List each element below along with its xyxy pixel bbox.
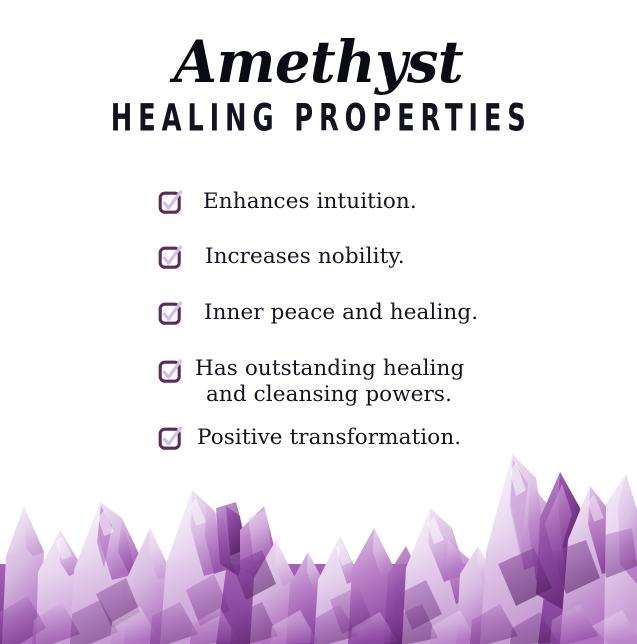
property-row: Has outstanding healing and cleansing po… bbox=[0, 358, 637, 414]
list-item: Enhances intuition. bbox=[0, 189, 637, 217]
property-row: Enhances intuition. bbox=[0, 189, 637, 217]
list-item: Increases nobility. bbox=[0, 244, 637, 272]
checkbox-checked-icon bbox=[158, 189, 184, 215]
amethyst-infographic: Amethyst HEALING PROPERTIES Enhances int… bbox=[0, 0, 637, 644]
checkbox-checked-icon bbox=[158, 300, 184, 326]
list-item: Inner peace and healing. bbox=[0, 300, 637, 328]
page-title: Amethyst bbox=[13, 30, 625, 94]
checkbox-checked-icon bbox=[158, 358, 184, 384]
list-item: Has outstanding healing and cleansing po… bbox=[0, 358, 637, 414]
property-label-line-2: and cleansing powers. bbox=[206, 382, 452, 408]
header: Amethyst HEALING PROPERTIES bbox=[0, 0, 637, 136]
page-subtitle: HEALING PROPERTIES bbox=[70, 98, 567, 138]
amethyst-crystal-cluster-image bbox=[0, 444, 637, 644]
property-label: Enhances intuition. bbox=[203, 189, 417, 215]
property-label: Inner peace and healing. bbox=[204, 300, 478, 326]
property-label-line-1: Has outstanding healing bbox=[195, 356, 464, 382]
property-row: Inner peace and healing. bbox=[0, 300, 637, 328]
property-row: Increases nobility. bbox=[0, 244, 637, 272]
checkbox-checked-icon bbox=[158, 244, 184, 270]
property-label: Increases nobility. bbox=[205, 244, 405, 270]
